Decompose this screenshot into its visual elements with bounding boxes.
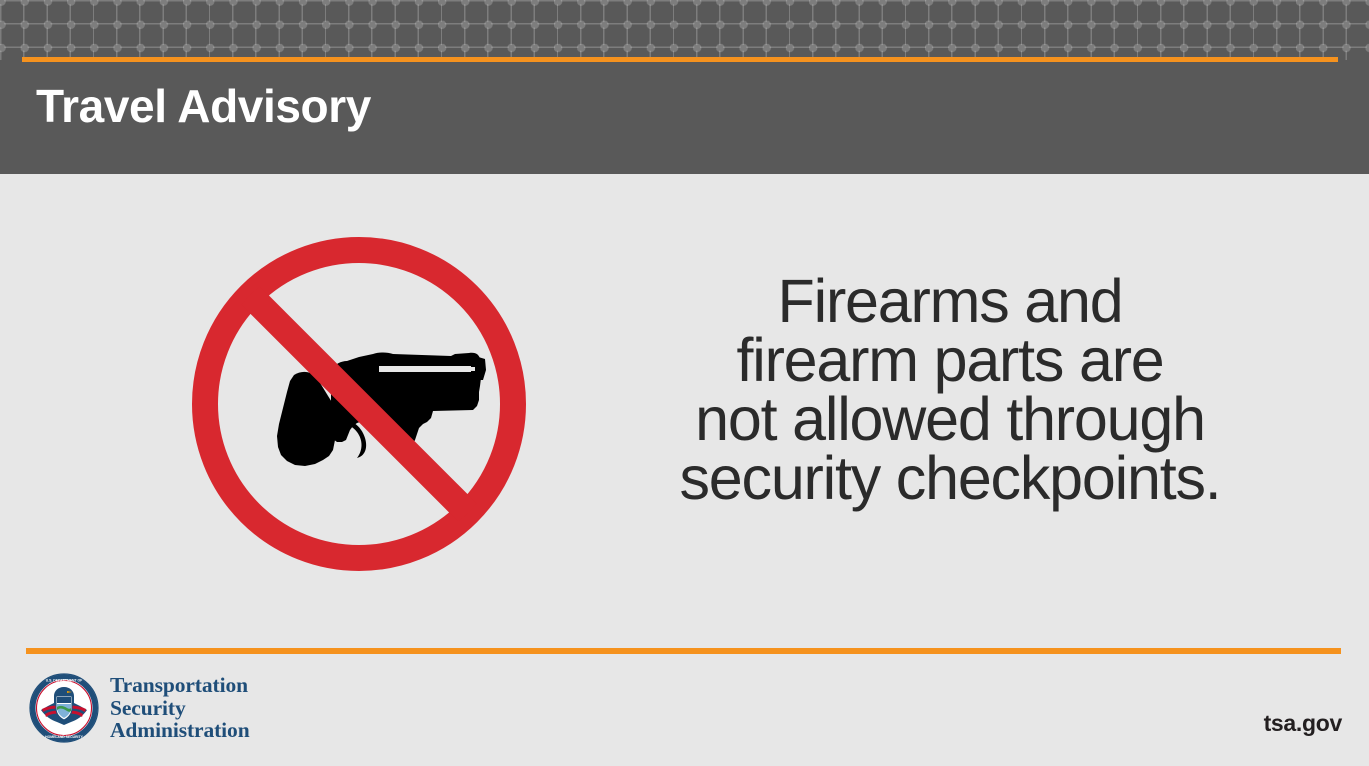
advisory-line-3: not allowed through [600, 390, 1300, 449]
header-band: Travel Advisory [0, 0, 1369, 174]
wordmark-line-1: Transportation [110, 674, 250, 697]
advisory-message: Firearms and firearm parts are not allow… [600, 272, 1300, 508]
tsa-website-url[interactable]: tsa.gov [1264, 710, 1342, 737]
advisory-line-1: Firearms and [600, 272, 1300, 331]
travel-advisory-slide: Travel Advisory [0, 0, 1369, 766]
wordmark-line-3: Administration [110, 719, 250, 742]
advisory-line-2: firearm parts are [600, 331, 1300, 390]
header-accent-rule [22, 57, 1338, 62]
tsa-wordmark: Transportation Security Administration [110, 674, 250, 742]
pattern-rounded-corners [0, 0, 1369, 60]
dhs-seal-icon: U.S. DEPARTMENT OF HOMELAND SECURITY [28, 672, 100, 744]
advisory-line-4: security checkpoints. [600, 449, 1300, 508]
svg-text:U.S. DEPARTMENT OF: U.S. DEPARTMENT OF [46, 679, 82, 683]
no-firearms-icon [183, 228, 535, 580]
header-pattern-grid [0, 0, 1369, 60]
wordmark-line-2: Security [110, 697, 250, 720]
tsa-logo: U.S. DEPARTMENT OF HOMELAND SECURITY [28, 671, 250, 745]
page-title: Travel Advisory [36, 75, 371, 137]
footer-accent-rule [26, 648, 1341, 654]
svg-text:HOMELAND SECURITY: HOMELAND SECURITY [45, 735, 83, 739]
